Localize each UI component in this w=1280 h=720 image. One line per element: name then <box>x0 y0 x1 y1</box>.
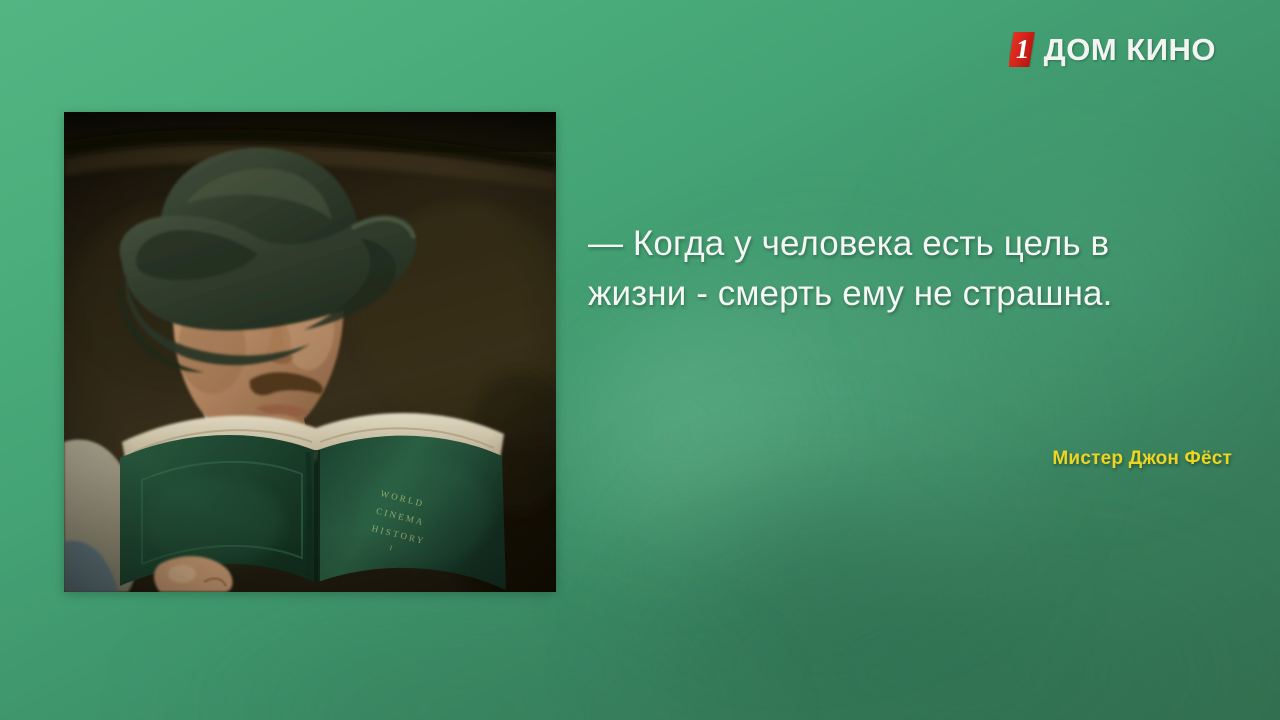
film-still-photo: WORLD CINEMA HISTORY I <box>64 112 556 592</box>
channel-logo: 1 ДОМ КИНО <box>1009 28 1216 70</box>
channel-logo-text: ДОМ КИНО <box>1044 34 1216 65</box>
film-still-illustration: WORLD CINEMA HISTORY I <box>64 112 556 592</box>
logo-digit: 1 <box>1009 32 1035 67</box>
quote-card: 1 ДОМ КИНО <box>0 0 1280 720</box>
quote-attribution: Мистер Джон Фёст <box>600 448 1232 470</box>
channel-one-mark-icon: 1 <box>1009 32 1035 67</box>
quote-text: — Когда у человека есть цель в жизни - с… <box>588 219 1168 318</box>
quote-line-1: — Когда у человека есть цель в <box>588 219 1168 269</box>
quote-line-2: жизни - смерть ему не страшна. <box>588 269 1168 319</box>
